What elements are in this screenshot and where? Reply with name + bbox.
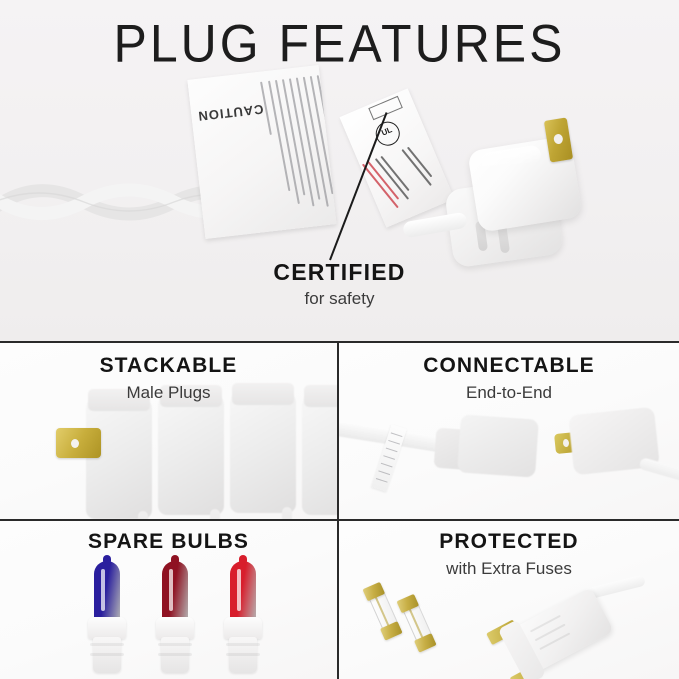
feature-title-stackable: STACKABLE <box>0 353 337 379</box>
brass-prong-icon <box>56 428 101 458</box>
feature-card-connectable: CONNECTABLE End-to-End <box>339 343 679 519</box>
bulb-dark-red <box>152 557 198 675</box>
grid-divider-middle <box>0 519 679 521</box>
certified-callout: CERTIFIED for safety <box>0 258 679 311</box>
bulb-blue <box>84 557 130 675</box>
bulb-red <box>220 557 266 675</box>
hero-plug-icon <box>455 125 590 255</box>
feature-title-spare-bulbs: SPARE BULBS <box>0 529 337 555</box>
certified-subtitle: for safety <box>0 287 679 311</box>
certified-title: CERTIFIED <box>0 258 679 286</box>
feature-title-connectable: CONNECTABLE <box>339 353 679 379</box>
feature-subtitle-protected: with Extra Fuses <box>339 557 679 580</box>
feature-subtitle-connectable: End-to-End <box>339 381 679 404</box>
features-grid: STACKABLE Male Plugs <box>0 341 679 679</box>
feature-card-stackable: STACKABLE Male Plugs <box>0 343 337 519</box>
fuses-icon <box>339 563 679 679</box>
feature-card-protected: PROTECTED with Extra Fuses <box>339 521 679 679</box>
glass-fuse <box>396 593 437 652</box>
hero-section: PLUG FEATURES CAUTION <box>0 0 679 341</box>
spare-bulbs-icon <box>0 557 337 679</box>
feature-card-spare-bulbs: SPARE BULBS <box>0 521 337 679</box>
glass-fuse <box>362 581 403 640</box>
feature-title-protected: PROTECTED <box>339 529 679 555</box>
feature-subtitle-stackable: Male Plugs <box>0 381 337 404</box>
page-title: PLUG FEATURES <box>0 14 679 73</box>
ul-certification-tag <box>339 88 454 227</box>
grid-divider-top <box>0 341 679 343</box>
caution-hang-tag: CAUTION <box>187 65 336 239</box>
grid-divider-vertical <box>337 341 339 679</box>
infographic-page: PLUG FEATURES CAUTION <box>0 0 679 679</box>
